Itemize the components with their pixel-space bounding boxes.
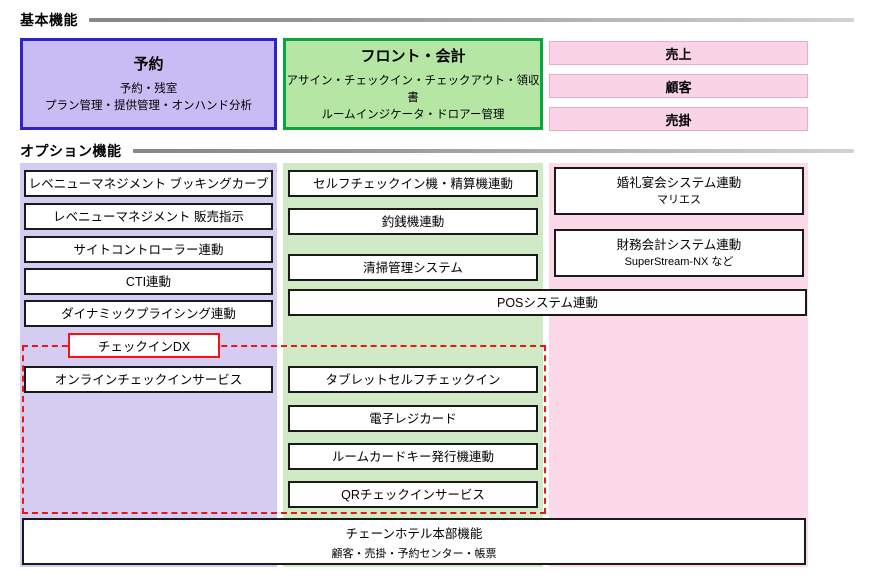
card-sales[interactable]: 売上 [549, 41, 808, 65]
option-electronic-registration-card[interactable]: 電子レジカード [288, 405, 538, 432]
option-wedding-banquet-title: 婚礼宴会システム連動 [617, 175, 742, 191]
option-financial-accounting-sub: SuperStream-NX など [625, 255, 734, 270]
option-pos-system[interactable]: POSシステム連動 [288, 289, 807, 316]
checkin-dx-badge[interactable]: チェックインDX [68, 333, 220, 358]
option-room-card-key-issuer[interactable]: ルームカードキー発行機連動 [288, 443, 538, 470]
card-front-accounting-title: フロント・会計 [360, 45, 465, 66]
option-financial-accounting-title: 財務会計システム連動 [617, 237, 742, 253]
band-sales-customer [549, 163, 808, 567]
card-front-accounting-sub-1: アサイン・チェックイン・チェックアウト・領収書 [286, 73, 540, 107]
option-qr-checkin-service[interactable]: QRチェックインサービス [288, 481, 538, 508]
card-receivable[interactable]: 売掛 [549, 107, 808, 131]
section-label-basic: 基本機能 [20, 10, 78, 30]
section-header-basic: 基本機能 [20, 10, 854, 30]
option-site-controller[interactable]: サイトコントローラー連動 [24, 236, 273, 263]
card-reservation[interactable]: 予約 予約・残室 プラン管理・提供管理・オンハンド分析 [20, 38, 277, 130]
option-wedding-banquet-system[interactable]: 婚礼宴会システム連動 マリエス [554, 167, 804, 215]
card-front-accounting[interactable]: フロント・会計 アサイン・チェックイン・チェックアウト・領収書 ルームインジケー… [283, 38, 543, 130]
option-online-checkin-service[interactable]: オンラインチェックインサービス [24, 366, 273, 393]
diagram-canvas: 基本機能 予約 予約・残室 プラン管理・提供管理・オンハンド分析 フロント・会計… [0, 0, 880, 581]
chain-hotel-sub: 顧客・売掛・予約センター・帳票 [332, 545, 497, 561]
option-tablet-self-checkin[interactable]: タブレットセルフチェックイン [288, 366, 538, 393]
option-revenue-booking-curve[interactable]: レベニューマネジメント ブッキングカーブ [24, 170, 273, 197]
section-header-option: オプション機能 [20, 141, 854, 161]
option-wedding-banquet-sub: マリエス [657, 193, 701, 208]
option-self-checkin-machine[interactable]: セルフチェックイン機・精算機連動 [288, 170, 538, 197]
chain-hotel-headquarters[interactable]: チェーンホテル本部機能 顧客・売掛・予約センター・帳票 [22, 518, 806, 565]
section-rule-option [133, 149, 855, 153]
card-reservation-sub-1: 予約・残室 [120, 81, 178, 98]
option-revenue-sales-instruction[interactable]: レベニューマネジメント 販売指示 [24, 203, 273, 230]
card-reservation-title: 予約 [133, 53, 163, 74]
option-cti[interactable]: CTI連動 [24, 268, 273, 295]
chain-hotel-title: チェーンホテル本部機能 [346, 523, 483, 542]
option-cleaning-management[interactable]: 清掃管理システム [288, 254, 538, 281]
option-change-machine[interactable]: 釣銭機連動 [288, 208, 538, 235]
option-dynamic-pricing[interactable]: ダイナミックプライシング連動 [24, 300, 273, 327]
section-rule-basic [89, 18, 854, 22]
card-reservation-sub-2: プラン管理・提供管理・オンハンド分析 [45, 98, 252, 115]
card-customer[interactable]: 顧客 [549, 74, 808, 98]
card-front-accounting-sub-2: ルームインジケータ・ドロアー管理 [322, 107, 505, 124]
section-label-option: オプション機能 [20, 141, 122, 161]
option-financial-accounting-system[interactable]: 財務会計システム連動 SuperStream-NX など [554, 229, 804, 277]
